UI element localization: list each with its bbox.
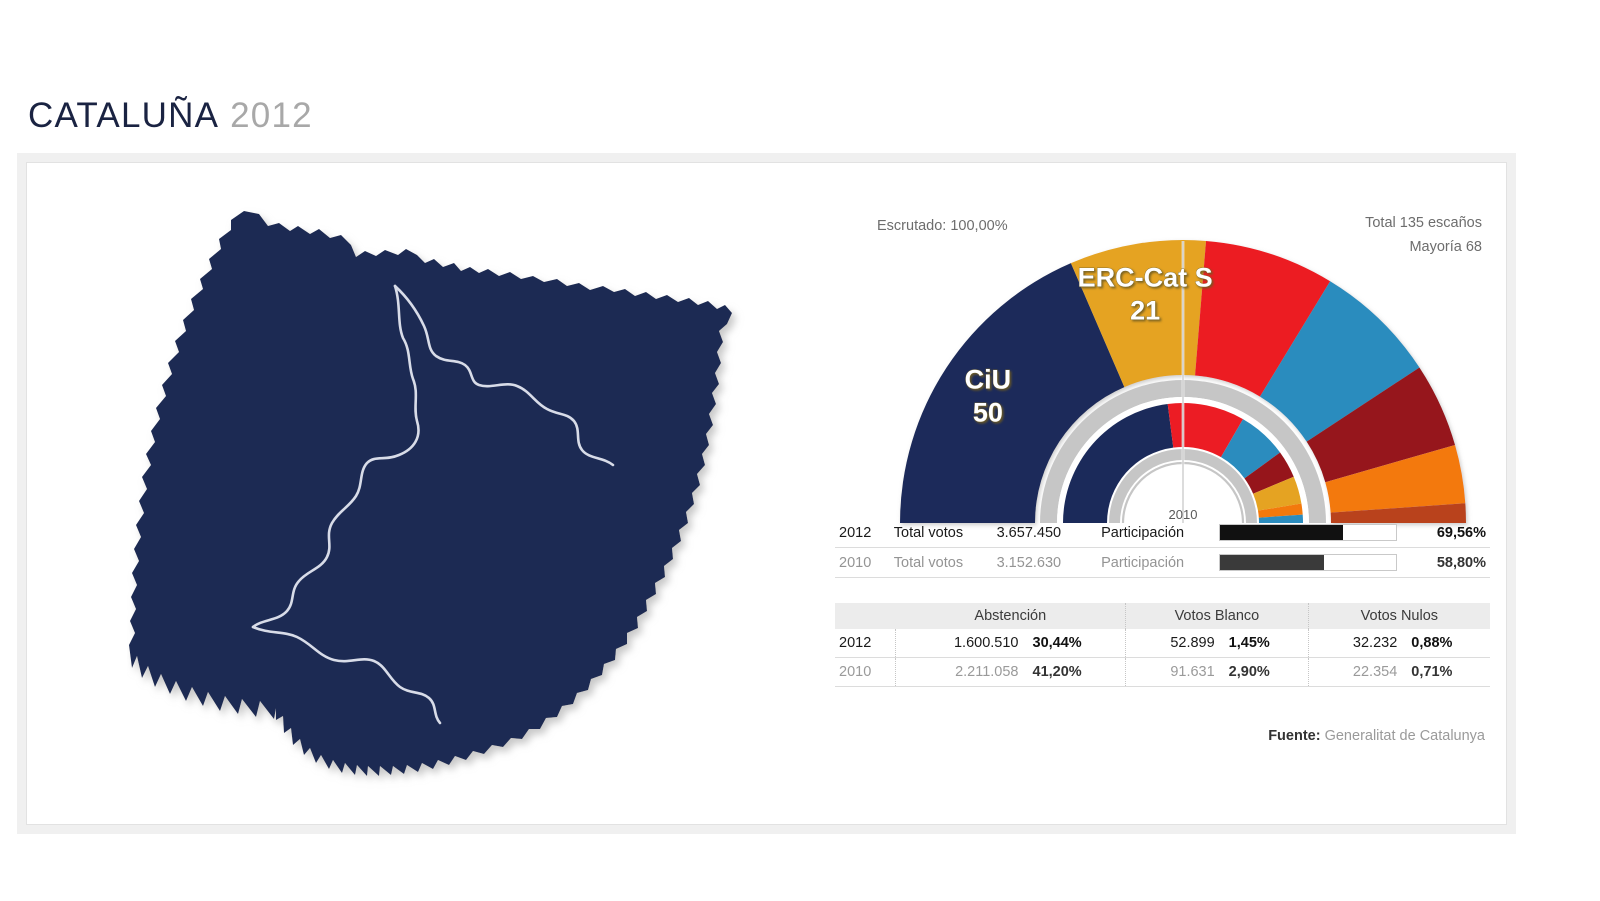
- slice-label-seats-erc-cat-s: 21: [1130, 296, 1160, 326]
- turnout-votes: 3.657.450: [993, 518, 1097, 548]
- page-title: CATALUÑA 2012: [28, 96, 313, 140]
- catalonia-map[interactable]: [127, 193, 767, 813]
- map-border-lleida-barcelona: [253, 286, 418, 627]
- turnout-year: 2010: [835, 548, 890, 578]
- blanco-count: 91.631: [1126, 658, 1225, 687]
- turnout-table: 2012 Total votos 3.657.450 Participación…: [835, 518, 1490, 578]
- participation-bar-fill: [1220, 555, 1323, 570]
- participation-label: Participación: [1097, 548, 1215, 578]
- detail-header-spacer: [835, 603, 896, 629]
- detail-table-header-row: Abstención Votos Blanco Votos Nulos: [835, 603, 1490, 629]
- nulos-pct: 0,88%: [1407, 629, 1490, 658]
- turnout-label: Total votos: [890, 548, 993, 578]
- detail-header-nulos: Votos Nulos: [1308, 603, 1490, 629]
- participation-pct: 69,56%: [1410, 518, 1490, 548]
- turnout-label: Total votos: [890, 518, 993, 548]
- map-border-girona-barcelona: [395, 286, 613, 465]
- page-title-year: 2012: [230, 96, 313, 136]
- map-border-tarragona: [253, 627, 440, 723]
- hemicycle-svg: CiU50ERC-Cat S21 2010: [817, 223, 1507, 543]
- map-province-borders: [127, 193, 767, 813]
- slice-label-party-ciu: CiU: [965, 365, 1012, 395]
- participation-bar-cell: [1215, 518, 1410, 548]
- participation-bar-track: [1219, 524, 1397, 541]
- table-row: 2012 Total votos 3.657.450 Participación…: [835, 518, 1490, 548]
- results-panel: Escrutado: 100,00% Total 135 escaños May…: [817, 183, 1507, 828]
- detail-table: Abstención Votos Blanco Votos Nulos 2012…: [835, 603, 1490, 687]
- nulos-count: 22.354: [1308, 658, 1407, 687]
- source-line: Fuente: Generalitat de Catalunya: [1268, 728, 1485, 744]
- blanco-pct: 1,45%: [1225, 629, 1309, 658]
- participation-bar-cell: [1215, 548, 1410, 578]
- participation-pct: 58,80%: [1410, 548, 1490, 578]
- abstencion-pct: 30,44%: [1029, 629, 1126, 658]
- detail-header-abstencion: Abstención: [896, 603, 1126, 629]
- detail-year: 2010: [835, 658, 896, 687]
- blanco-pct: 2,90%: [1225, 658, 1309, 687]
- table-row: 2010 2.211.058 41,20% 91.631 2,90% 22.35…: [835, 658, 1490, 687]
- nulos-count: 32.232: [1308, 629, 1407, 658]
- source-label: Fuente:: [1268, 728, 1320, 744]
- participation-label: Participación: [1097, 518, 1215, 548]
- participation-bar-fill: [1220, 525, 1342, 540]
- detail-header-blanco: Votos Blanco: [1126, 603, 1309, 629]
- participation-bar-track: [1219, 554, 1397, 571]
- slice-label-party-erc-cat-s: ERC-Cat S: [1078, 263, 1213, 293]
- page-title-region: CATALUÑA: [28, 96, 219, 136]
- detail-year: 2012: [835, 629, 896, 658]
- nulos-pct: 0,71%: [1407, 658, 1490, 687]
- source-value: Generalitat de Catalunya: [1325, 728, 1485, 744]
- content-frame-inner: Escrutado: 100,00% Total 135 escaños May…: [26, 162, 1507, 825]
- turnout-votes: 3.152.630: [993, 548, 1097, 578]
- blanco-count: 52.899: [1126, 629, 1225, 658]
- table-row: 2010 Total votos 3.152.630 Participación…: [835, 548, 1490, 578]
- content-frame: Escrutado: 100,00% Total 135 escaños May…: [17, 153, 1516, 834]
- slice-label-seats-ciu: 50: [973, 398, 1003, 428]
- abstencion-count: 2.211.058: [896, 658, 1029, 687]
- abstencion-pct: 41,20%: [1029, 658, 1126, 687]
- hemicycle-chart[interactable]: CiU50ERC-Cat S21 2010: [817, 223, 1507, 543]
- turnout-year: 2012: [835, 518, 890, 548]
- abstencion-count: 1.600.510: [896, 629, 1029, 658]
- table-row: 2012 1.600.510 30,44% 52.899 1,45% 32.23…: [835, 629, 1490, 658]
